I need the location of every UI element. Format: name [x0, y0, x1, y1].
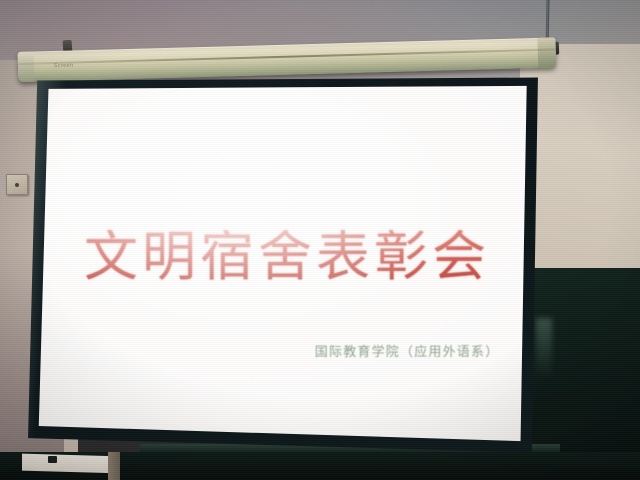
chalk-tray	[22, 454, 120, 474]
projected-slide: 文明宿舍表彰会 国际教育学院（应用外语系）	[48, 89, 525, 437]
chalk-tray-notch	[48, 456, 57, 463]
photo-scene: Screen 文明宿舍表彰会 国际教育学院（应用外语系）	[0, 0, 640, 480]
housing-brand-label: Screen	[54, 62, 74, 69]
wall-outlet-plate	[6, 174, 28, 195]
slide-title: 文明宿舍表彰会	[48, 230, 525, 284]
housing-end-cap-right	[537, 37, 556, 67]
housing-seam-line	[18, 48, 556, 64]
projection-screen[interactable]: 文明宿舍表彰会 国际教育学院（应用外语系）	[28, 76, 540, 454]
slide-subtitle: 国际教育学院（应用外语系）	[315, 341, 500, 360]
chalk-tray-post	[108, 452, 120, 480]
